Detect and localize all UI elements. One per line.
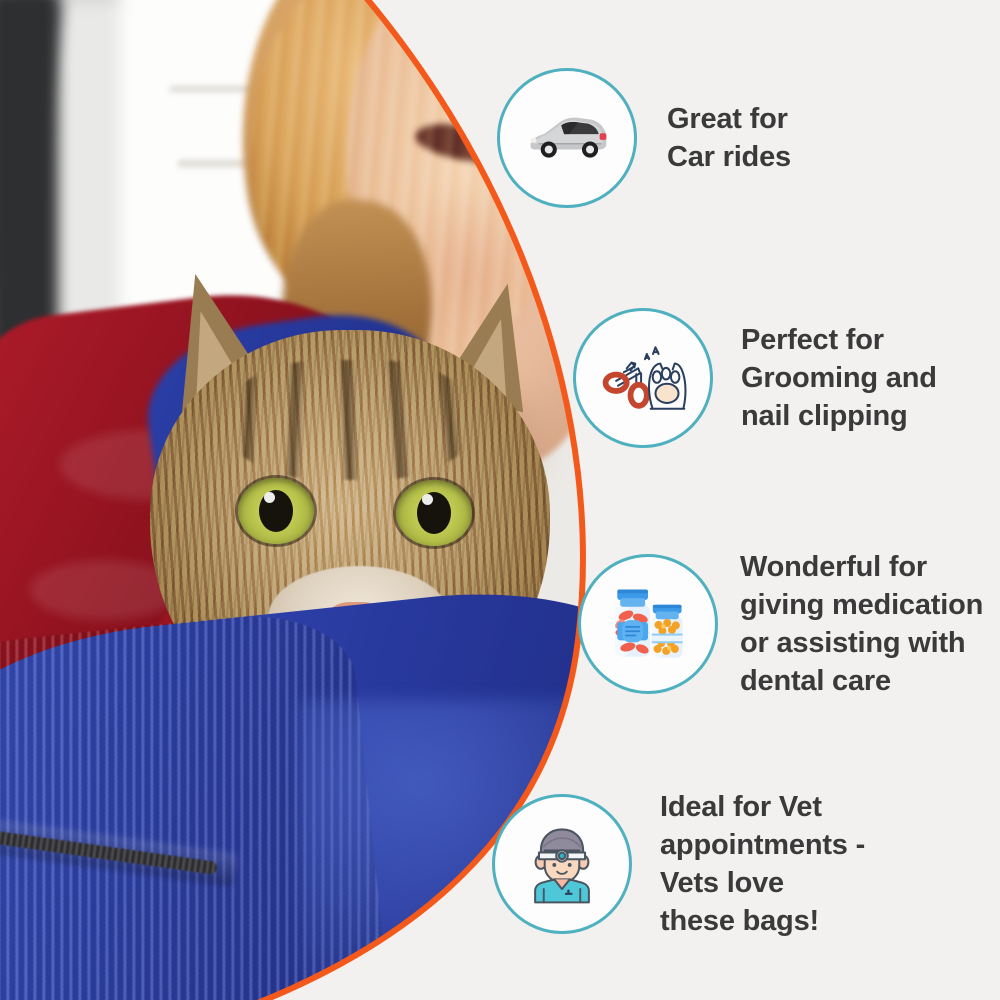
car-icon <box>519 90 615 186</box>
cat-eye-glint-left <box>264 492 275 503</box>
feature-medication: Wonderful for giving medication or assis… <box>578 548 983 700</box>
veterinarian-icon <box>514 816 610 912</box>
feature-label-medication: Wonderful for giving medication or assis… <box>740 548 983 700</box>
feature-grooming: Perfect for Grooming and nail clipping <box>573 308 937 448</box>
badge-medication <box>578 554 718 694</box>
cat-forehead-stripes <box>230 360 470 480</box>
nail-clippers-paw-icon <box>595 330 691 426</box>
badge-grooming <box>573 308 713 448</box>
badge-car-rides <box>497 68 637 208</box>
cat-eye-glint-right <box>422 494 433 505</box>
feature-label-vet: Ideal for Vet appointments - Vets love t… <box>660 788 865 940</box>
badge-vet <box>492 794 632 934</box>
feature-vet: Ideal for Vet appointments - Vets love t… <box>492 788 865 940</box>
feature-label-grooming: Perfect for Grooming and nail clipping <box>741 321 937 435</box>
feature-car-rides: Great for Car rides <box>497 68 791 208</box>
feature-label-car-rides: Great for Car rides <box>667 100 791 176</box>
pill-bottles-icon <box>600 576 696 672</box>
infographic-canvas: Great for Car rides <box>0 0 1000 1000</box>
